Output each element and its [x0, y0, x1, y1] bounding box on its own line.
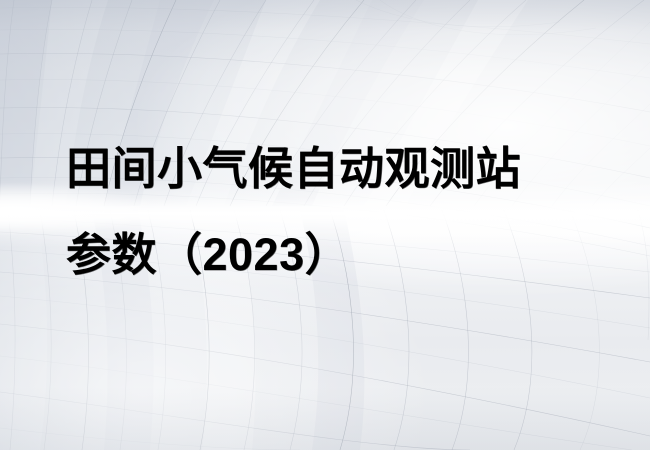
title-line-1: 田间小气候自动观测站	[66, 126, 606, 212]
title-slide: 田间小气候自动观测站 参数（2023）	[0, 0, 650, 450]
title-line-2: 参数（2023）	[66, 212, 606, 298]
page-title: 田间小气候自动观测站 参数（2023）	[66, 126, 606, 298]
